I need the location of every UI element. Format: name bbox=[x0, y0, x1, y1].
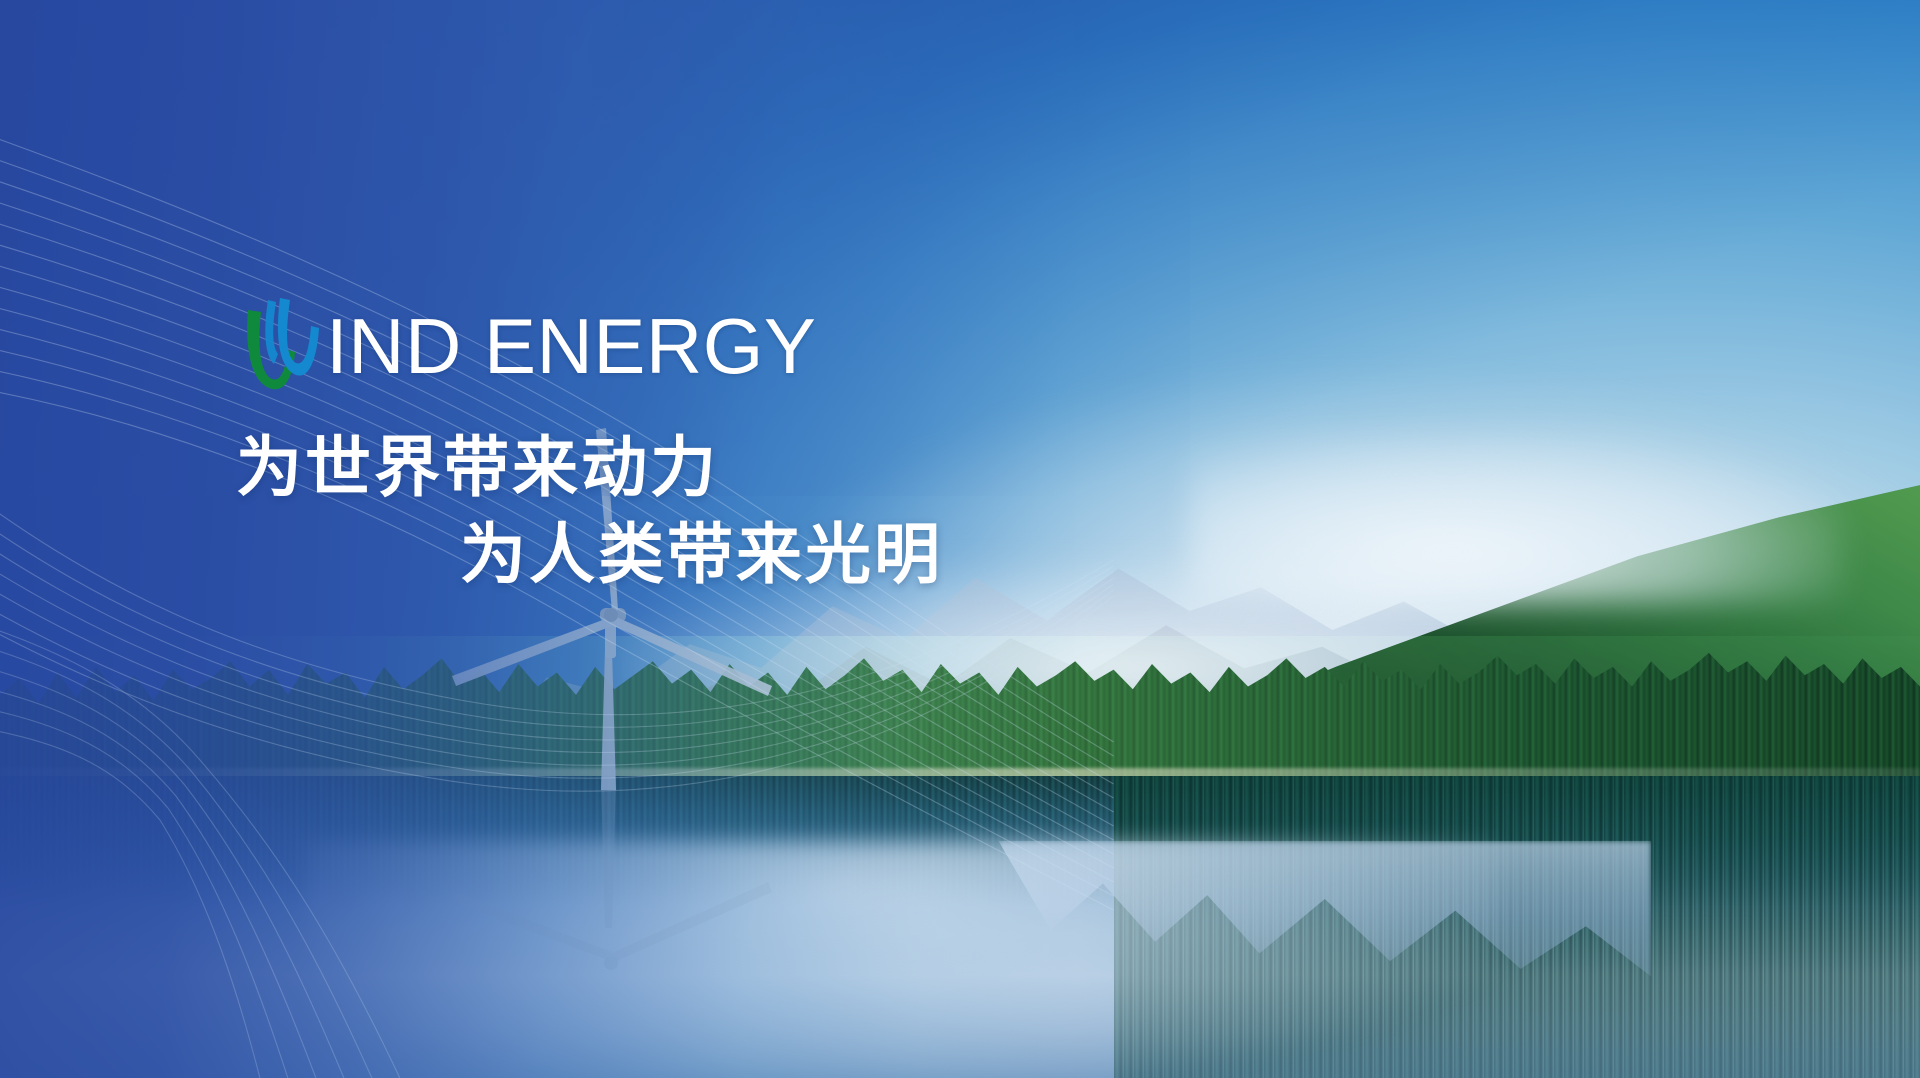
wind-w-swoosh-logo-icon bbox=[236, 294, 324, 398]
slogan-line-1: 为世界带来动力 bbox=[236, 430, 719, 504]
brand-name: IND ENERGY bbox=[326, 307, 816, 385]
slogan-line-2: 为人类带来光明 bbox=[236, 511, 943, 598]
slogan-block: 为世界带来动力 为人类带来光明 bbox=[236, 424, 943, 598]
hero-banner: IND ENERGY 为世界带来动力 为人类带来光明 bbox=[0, 0, 1920, 1078]
hero-content: IND ENERGY 为世界带来动力 为人类带来光明 bbox=[0, 0, 1920, 1078]
brand-lockup: IND ENERGY bbox=[236, 294, 816, 398]
